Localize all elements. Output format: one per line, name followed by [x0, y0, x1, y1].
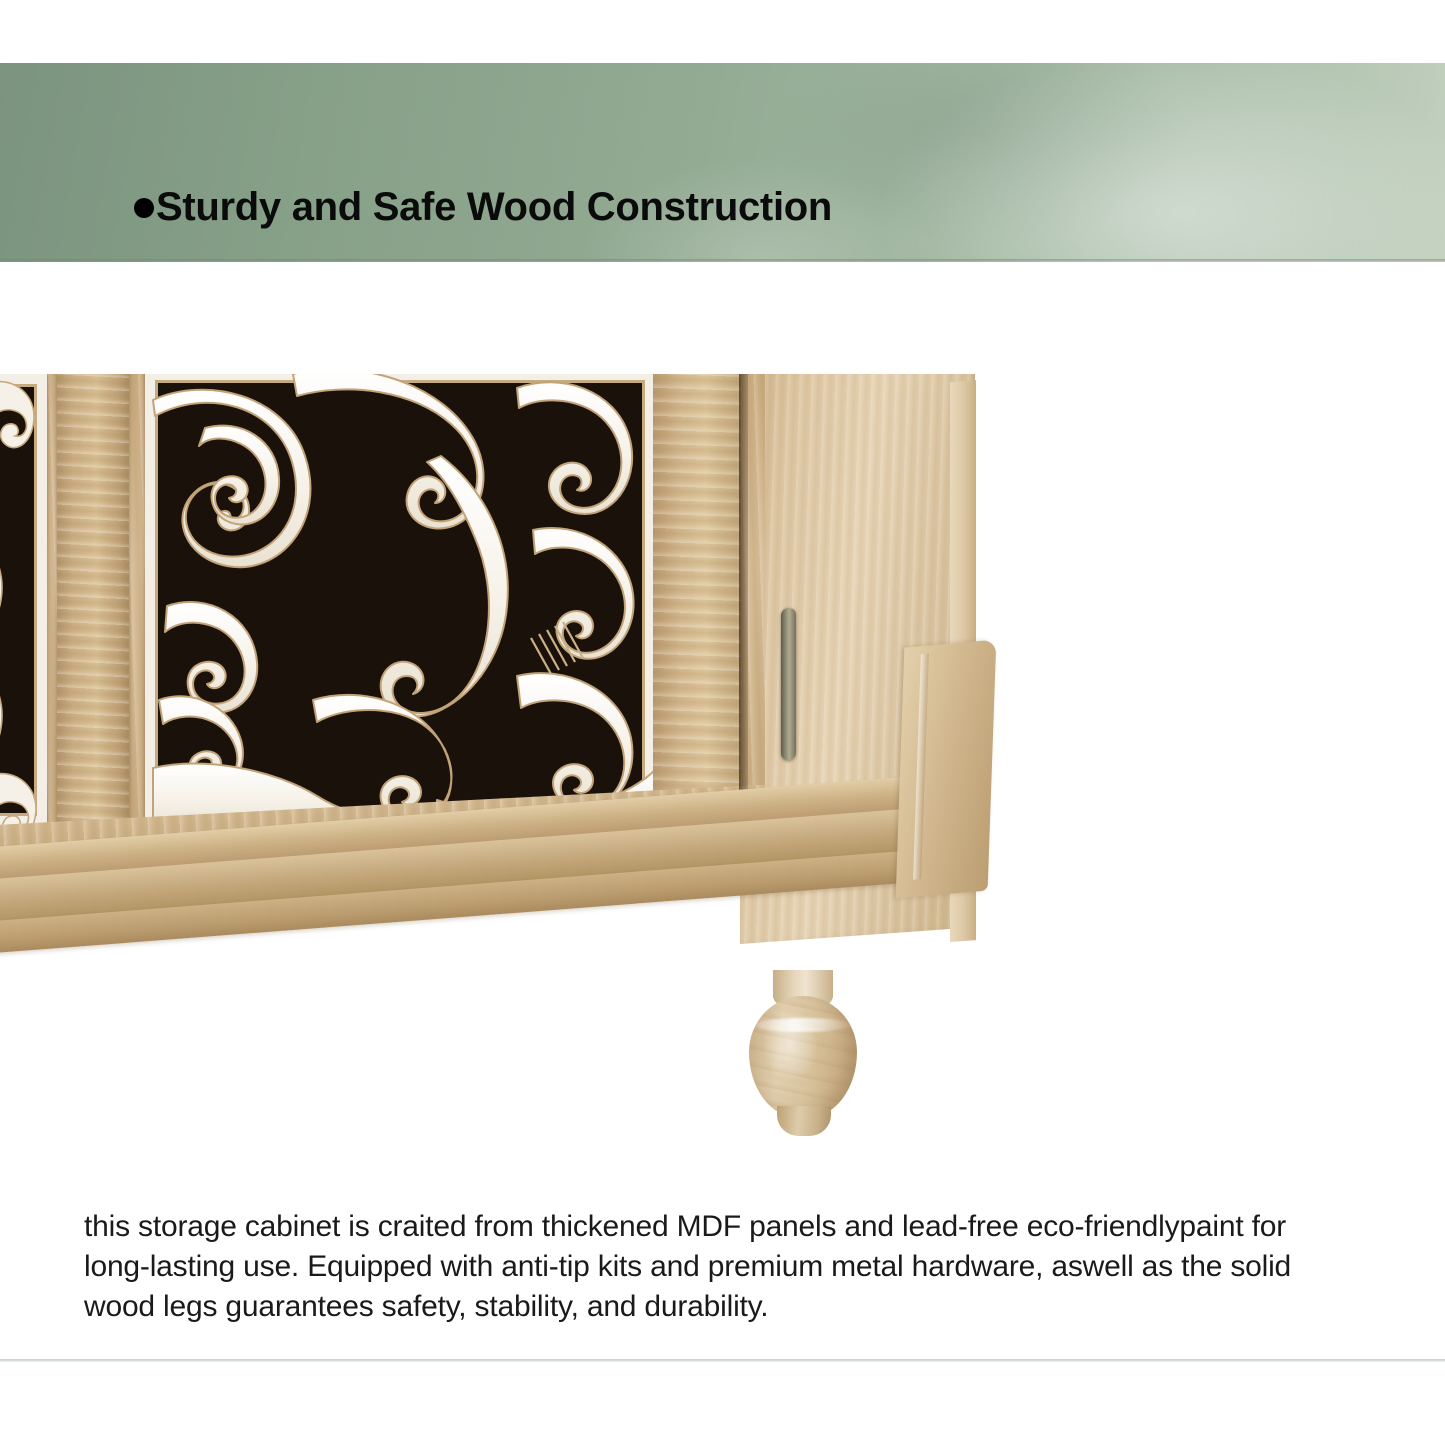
page-title: Sturdy and Safe Wood Construction	[134, 186, 832, 228]
header-banner: Sturdy and Safe Wood Construction	[0, 63, 1445, 262]
product-photo	[0, 374, 1445, 1184]
cabinet-door-stile-center	[57, 374, 129, 869]
product-photo-scene	[0, 374, 995, 1184]
cabinet-hinge-icon	[781, 608, 796, 761]
scrollwork-pattern-main-icon	[145, 374, 655, 830]
carved-fretwork-panel-left	[0, 374, 47, 826]
cabinet-wood-leg	[745, 970, 863, 1145]
page-title-text: Sturdy and Safe Wood Construction	[156, 185, 832, 229]
footer-divider	[0, 1359, 1445, 1362]
leg-foot	[777, 1106, 831, 1136]
bullet-point-icon	[134, 198, 154, 218]
cabinet-base-corner-bracket	[896, 640, 997, 899]
leg-turning-ring	[755, 1018, 851, 1032]
scrollwork-pattern-left-icon	[0, 374, 47, 826]
product-description: this storage cabinet is craited from thi…	[84, 1207, 1294, 1327]
carved-fretwork-panel-main	[145, 374, 655, 830]
leg-bulb	[749, 996, 857, 1118]
